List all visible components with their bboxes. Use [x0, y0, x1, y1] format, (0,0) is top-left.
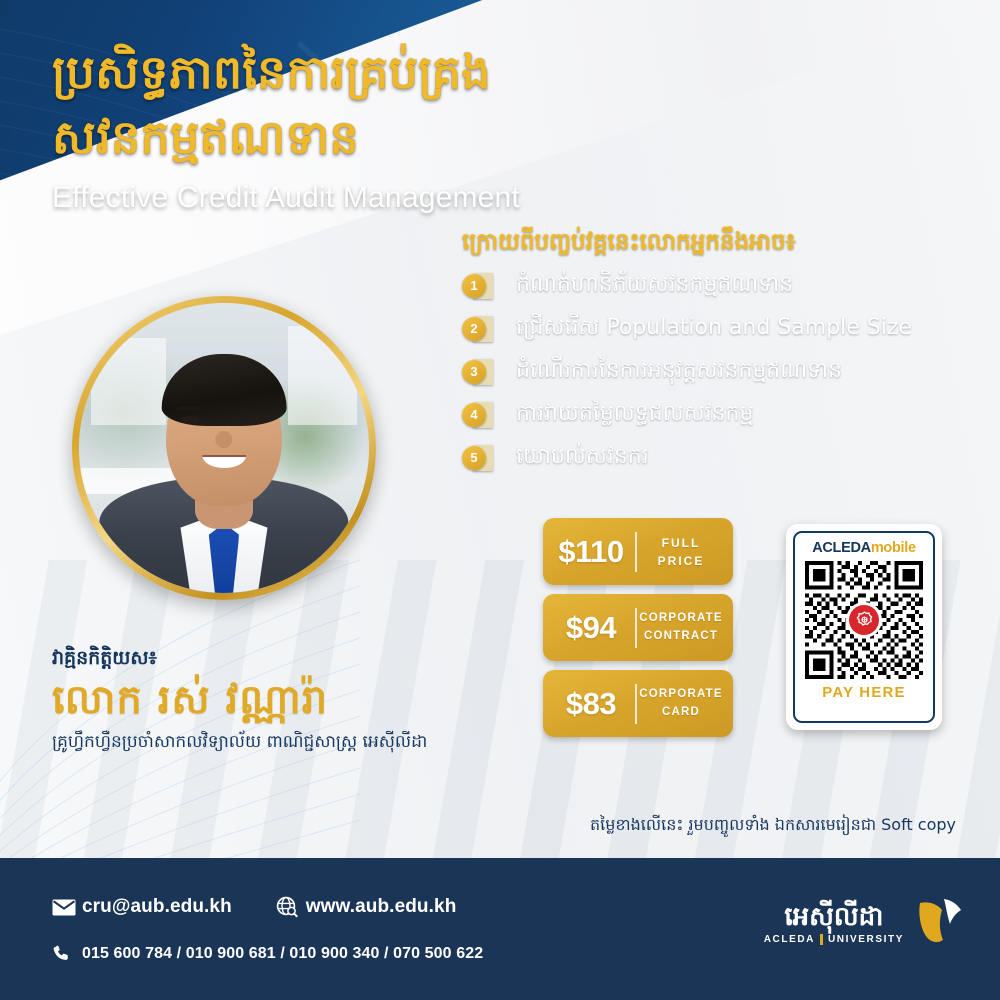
price-card-corporate-contract[interactable]: $94 CORPORATE CONTRACT — [543, 594, 733, 661]
speaker-label: វាគ្មិនកិត្តិយស៖ — [52, 646, 572, 671]
logo-acleda-word: ACLEDA — [764, 934, 815, 945]
envelope-icon — [52, 899, 82, 916]
globe-icon — [276, 896, 306, 918]
logo-separator-bar — [820, 934, 823, 945]
khqr-glyph — [855, 611, 874, 630]
footer-contact-row-2: 015 600 784 / 010 900 681 / 010 900 340 … — [52, 944, 483, 963]
list-item: 5 យោបល់សវនករ — [462, 441, 962, 475]
pay-here-label: PAY HERE — [822, 684, 906, 701]
pricing-section: $110 FULL PRICE $94 CORPORATE CONTRACT $… — [543, 518, 733, 746]
price-label: FULL PRICE — [637, 534, 725, 570]
portrait-window-1 — [91, 338, 166, 425]
page-title-khmer: ប្រសិទ្ធភាពនៃការគ្រប់គ្រង សវនកម្មឥណទាន — [52, 40, 652, 171]
price-card-corporate-card[interactable]: $83 CORPORATE CARD — [543, 670, 733, 737]
bullet-number: 2 — [462, 317, 486, 341]
bullet-badge: 2 — [462, 316, 506, 342]
list-item: 2 ជ្រើសរើស Population and Sample Size — [462, 312, 962, 346]
speaker-name: លោក រស់ វណ្ណារ៉ា — [52, 673, 572, 727]
bullet-badge: 4 — [462, 402, 506, 428]
note-line-1: តម្លៃខាងលើនេះ រួមបញ្ចូលទាំង ឯកសារមេរៀនជា… — [590, 812, 956, 838]
bullet-badge: 5 — [462, 445, 506, 471]
acleda-bird-mark-icon — [914, 894, 966, 954]
speaker-role: គ្រូហ្វឹកហ្វឺនប្រចាំសាកលវិទ្យាល័យ ពាណិជ្… — [52, 731, 572, 754]
brand-mobile: mobile — [871, 540, 916, 556]
globe-glyph — [276, 896, 298, 918]
envelope-glyph — [52, 899, 76, 916]
logo-english-name: ACLEDA UNIVERSITY — [764, 934, 904, 945]
page-title-english: Effective Credit Audit Management — [52, 181, 652, 215]
speaker-info: វាគ្មិនកិត្តិយស៖ លោក រស់ វណ្ណារ៉ា គ្រូហ្… — [52, 646, 572, 754]
qr-code-image[interactable] — [805, 561, 923, 679]
list-item-label: កំណត់ហានិភ័យសវនកម្មឥណទាន — [516, 271, 793, 300]
phone-glyph — [52, 944, 71, 963]
footer-email[interactable]: cru@aub.edu.kh — [82, 896, 232, 918]
acleda-mobile-brand: ACLEDAmobile — [812, 540, 916, 556]
bullet-number: 1 — [462, 274, 486, 298]
price-card-full[interactable]: $110 FULL PRICE — [543, 518, 733, 585]
bullet-number: 5 — [462, 446, 486, 470]
price-label: CORPORATE CARD — [637, 686, 725, 721]
footer-contact-row-1: cru@aub.edu.kh www.aub.edu.kh — [52, 896, 456, 918]
list-item: 4 ការវាយតម្លៃលទ្ធផលសវនកម្ម — [462, 398, 962, 432]
list-item-label: ដំណើរការនៃការអនុវត្តសវនកម្មឥណទាន — [516, 357, 842, 386]
price-amount: $94 — [547, 610, 635, 646]
qr-panel-inner: ACLEDAmobile — [793, 531, 935, 723]
phone-icon — [52, 944, 82, 963]
bullet-badge: 3 — [462, 359, 506, 385]
bullet-number: 4 — [462, 403, 486, 427]
brand-acleda: ACLEDA — [812, 540, 871, 556]
bullet-badge: 1 — [462, 273, 506, 299]
portrait-eye-right — [249, 416, 268, 424]
promotional-poster: ប្រសិទ្ធភាពនៃការគ្រប់គ្រង សវនកម្មឥណទាន E… — [0, 0, 1000, 1000]
outcomes-section: ក្រោយពីបញ្ចប់វគ្គនេះលោកអ្នកនឹងអាច៖ 1 កំណ… — [462, 228, 962, 484]
price-amount: $83 — [547, 686, 635, 722]
outcomes-heading: ក្រោយពីបញ្ចប់វគ្គនេះលោកអ្នកនឹងអាច៖ — [462, 228, 962, 257]
price-amount: $110 — [547, 534, 635, 570]
portrait-window-2 — [288, 326, 358, 425]
logo-university-word: UNIVERSITY — [828, 934, 904, 945]
footer-bar: cru@aub.edu.kh www.aub.edu.kh 015 600 78 — [0, 858, 1000, 1000]
avatar — [79, 303, 369, 593]
list-item-label: ការវាយតម្លៃលទ្ធផលសវនកម្ម — [516, 400, 753, 429]
list-item-label: ជ្រើសរើស Population and Sample Size — [516, 314, 912, 343]
footer-phones[interactable]: 015 600 784 / 010 900 681 / 010 900 340 … — [82, 945, 483, 963]
speaker-portrait-frame — [72, 296, 376, 600]
list-item-label: យោបល់សវនករ — [516, 443, 649, 472]
list-item: 1 កំណត់ហានិភ័យសវនកម្មឥណទាន — [462, 269, 962, 303]
bullet-number: 3 — [462, 360, 486, 384]
title-block: ប្រសិទ្ធភាពនៃការគ្រប់គ្រង សវនកម្មឥណទាន E… — [52, 40, 652, 215]
price-label: CORPORATE CONTRACT — [637, 610, 725, 645]
logo-text: អេស៊ីលីដា ACLEDA UNIVERSITY — [764, 903, 904, 946]
list-item: 3 ដំណើរការនៃការអនុវត្តសវនកម្មឥណទាន — [462, 355, 962, 389]
khqr-logo-icon — [849, 605, 879, 635]
footer-website[interactable]: www.aub.edu.kh — [306, 896, 457, 918]
portrait-eye-left — [181, 416, 200, 424]
acleda-university-logo: អេស៊ីលីដា ACLEDA UNIVERSITY — [764, 894, 966, 954]
logo-khmer-name: អេស៊ីលីដា — [764, 903, 904, 932]
acleda-pay-panel[interactable]: ACLEDAmobile — [786, 524, 942, 730]
